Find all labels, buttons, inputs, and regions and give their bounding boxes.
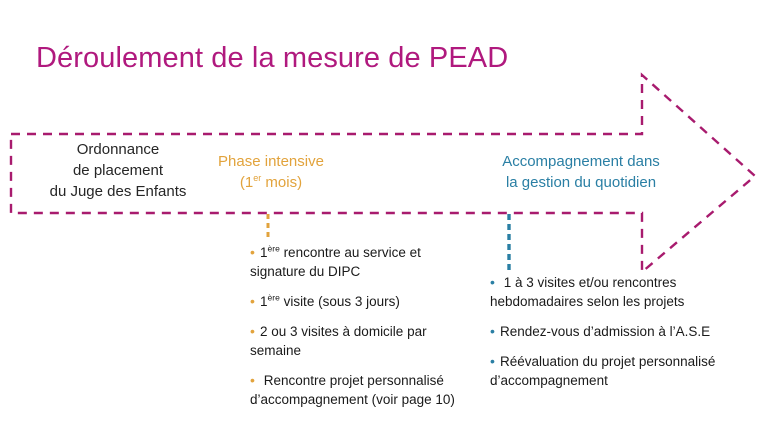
list-item: •1ère visite (sous 3 jours) (250, 292, 462, 311)
slide-canvas: Déroulement de la mesure de PEAD Ordonna… (0, 0, 759, 438)
list-item-sup: ère (268, 293, 280, 303)
list-item-text: Rendez-vous d’admission à l’A.S.E (500, 324, 710, 339)
list-item-text: 1 à 3 visites et/ou rencontres hebdomada… (490, 275, 684, 309)
bullet-dot-icon: • (250, 322, 260, 341)
list-item-pre: 1 (260, 245, 268, 260)
bullet-dot-icon: • (250, 292, 260, 311)
list-item: • Rencontre projet personnalisé d’accomp… (250, 371, 462, 409)
list-item: •1ère rencontre au service et signature … (250, 243, 462, 281)
bullet-dot-icon: • (490, 352, 500, 371)
phase-intensive-line-2: (1er mois) (186, 172, 356, 193)
list-item-sup: ère (268, 244, 280, 254)
bullet-list-quotidien: • 1 à 3 visites et/ou rencontres hebdoma… (490, 273, 722, 401)
phase-label-quotidien: Accompagnement dans la gestion du quotid… (444, 151, 718, 193)
list-item: • 1 à 3 visites et/ou rencontres hebdoma… (490, 273, 722, 311)
phase-quotidien-line-2: la gestion du quotidien (444, 172, 718, 193)
list-item-text: Réévaluation du projet personnalisé d’ac… (490, 354, 715, 388)
list-item-pre: 1 (260, 294, 268, 309)
phase-quotidien-line-1: Accompagnement dans (444, 151, 718, 172)
list-item-text: 2 ou 3 visites à domicile par semaine (250, 324, 427, 358)
bullet-dot-icon: • (490, 322, 500, 341)
list-item: •Réévaluation du projet personnalisé d’a… (490, 352, 722, 390)
bullet-dot-icon: • (250, 371, 260, 390)
phase-intensive-line-1: Phase intensive (186, 151, 356, 172)
bullet-dot-icon: • (250, 243, 260, 262)
list-item-text: visite (sous 3 jours) (280, 294, 400, 309)
list-item: •2 ou 3 visites à domicile par semaine (250, 322, 462, 360)
phase-intensive-paren-open: (1 (240, 174, 253, 191)
phase-label-intensive: Phase intensive (1er mois) (186, 151, 356, 193)
phase-intensive-mois: mois) (261, 174, 302, 191)
bullet-dot-icon: • (490, 273, 500, 292)
bullet-list-intensive: •1ère rencontre au service et signature … (250, 243, 462, 420)
list-item-text: Rencontre projet personnalisé d’accompag… (250, 373, 455, 407)
list-item: •Rendez-vous d’admission à l’A.S.E (490, 322, 722, 341)
page-title: Déroulement de la mesure de PEAD (36, 41, 508, 75)
